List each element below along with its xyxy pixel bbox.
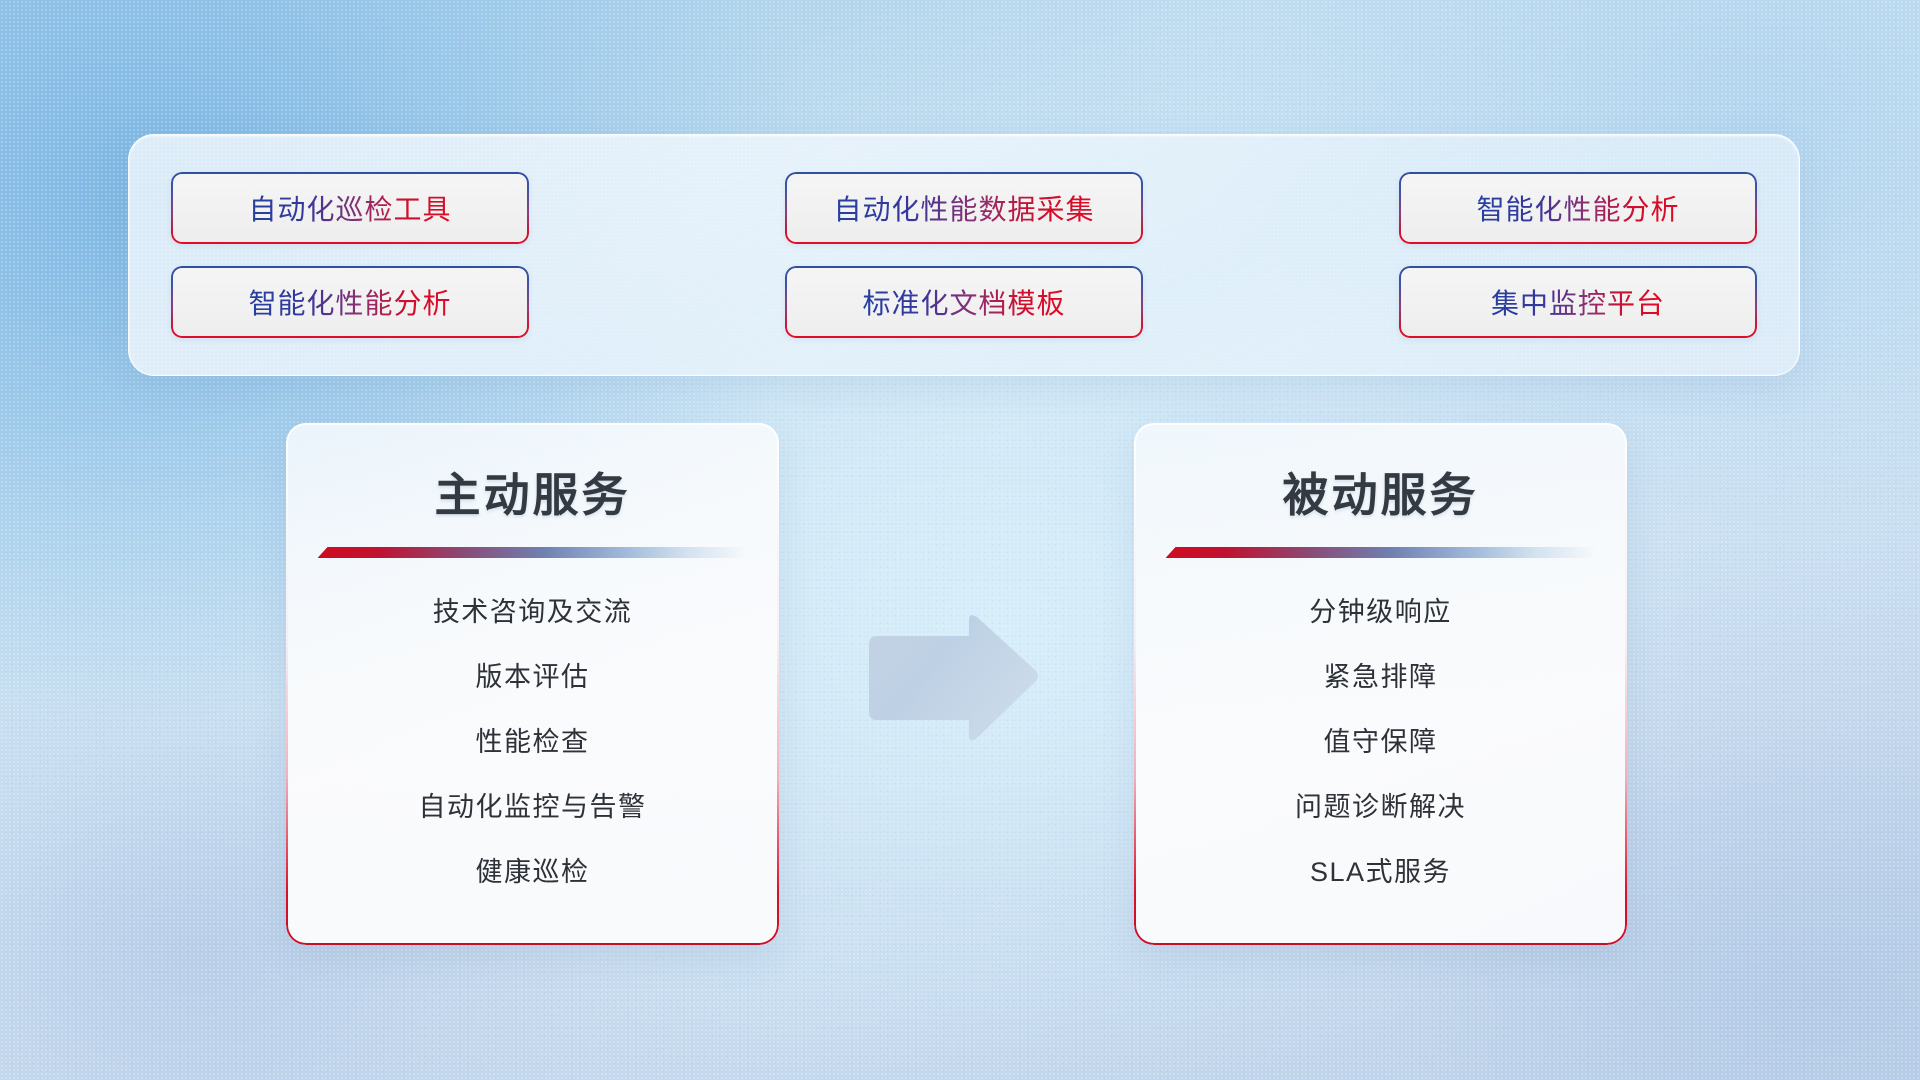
- capability-row-1: 自动化巡检工具 自动化性能数据采集 智能化性能分析: [171, 172, 1757, 244]
- capability-row-2: 智能化性能分析 标准化文档模板 集中监控平台: [171, 266, 1757, 338]
- title-underline-proactive: [318, 547, 748, 558]
- reactive-service-list: 分钟级响应 紧急排障 值守保障 问题诊断解决 SLA式服务: [1134, 590, 1627, 889]
- reactive-service-card: 被动服务 分钟级响应 紧急排障 值守保障 问题诊断解决 SLA式服务: [1134, 423, 1627, 945]
- title-underline-reactive: [1166, 547, 1596, 558]
- list-item: 健康巡检: [476, 850, 590, 889]
- capability-button-4[interactable]: 智能化性能分析: [171, 266, 529, 338]
- capability-button-label: 自动化性能数据采集: [833, 188, 1094, 228]
- capability-button-label: 标准化文档模板: [862, 282, 1065, 322]
- capability-button-label: 智能化性能分析: [248, 282, 451, 322]
- capability-button-label: 自动化巡检工具: [248, 188, 451, 228]
- list-item: 紧急排障: [1324, 655, 1438, 694]
- capability-button-1[interactable]: 自动化巡检工具: [171, 172, 529, 244]
- list-item: 版本评估: [476, 655, 590, 694]
- capability-button-3[interactable]: 智能化性能分析: [1399, 172, 1757, 244]
- list-item: 分钟级响应: [1309, 590, 1452, 629]
- card-title-reactive: 被动服务: [1134, 459, 1627, 525]
- proactive-service-list: 技术咨询及交流 版本评估 性能检查 自动化监控与告警 健康巡检: [286, 590, 779, 889]
- list-item: SLA式服务: [1310, 850, 1451, 889]
- list-item: 问题诊断解决: [1295, 785, 1466, 824]
- capability-button-6[interactable]: 集中监控平台: [1399, 266, 1757, 338]
- capability-button-label: 集中监控平台: [1491, 282, 1665, 322]
- card-title-proactive: 主动服务: [286, 459, 779, 525]
- list-item: 值守保障: [1324, 720, 1438, 759]
- capability-button-2[interactable]: 自动化性能数据采集: [785, 172, 1143, 244]
- list-item: 自动化监控与告警: [419, 785, 647, 824]
- capability-button-5[interactable]: 标准化文档模板: [785, 266, 1143, 338]
- list-item: 技术咨询及交流: [433, 590, 633, 629]
- right-arrow-icon: [865, 612, 1040, 744]
- capability-button-label: 智能化性能分析: [1476, 188, 1679, 228]
- capabilities-panel: 自动化巡检工具 自动化性能数据采集 智能化性能分析 智能化性能分析 标准化文档模…: [128, 134, 1800, 376]
- list-item: 性能检查: [476, 720, 590, 759]
- proactive-service-card: 主动服务 技术咨询及交流 版本评估 性能检查 自动化监控与告警 健康巡检: [286, 423, 779, 945]
